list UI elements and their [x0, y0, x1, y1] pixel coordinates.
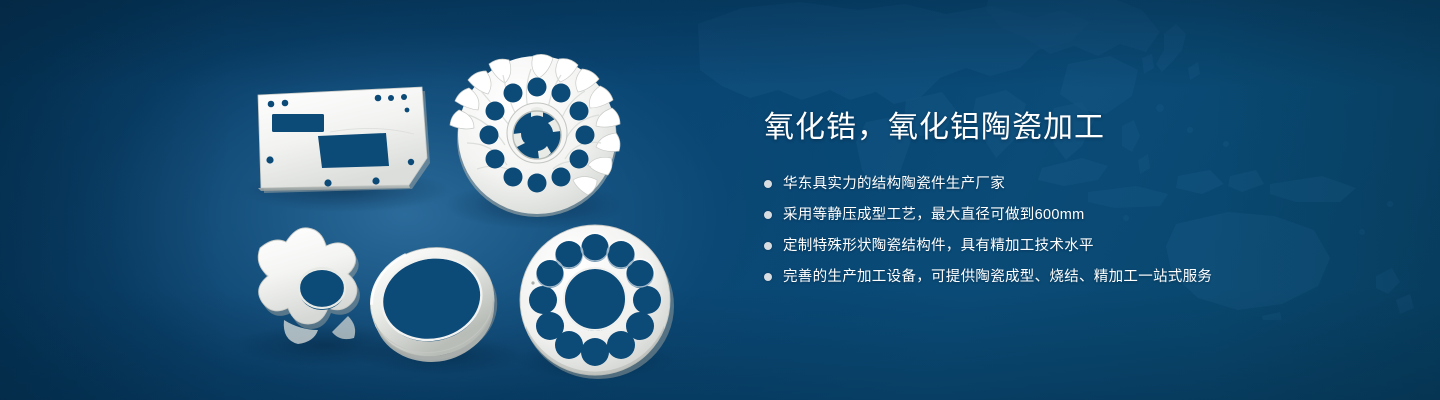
bullet-dot-icon [764, 180, 772, 188]
list-item-label: 完善的生产加工设备，可提供陶瓷成型、烧结、精加工一站式服务 [783, 266, 1212, 288]
bullet-dot-icon [764, 273, 772, 281]
banner-copy: 氧化锆，氧化铝陶瓷加工 华东具实力的结构陶瓷件生产厂家 采用等静压成型工艺，最大… [764, 108, 1404, 297]
bullet-dot-icon [764, 242, 772, 250]
list-item: 华东具实力的结构陶瓷件生产厂家 [764, 173, 1404, 195]
list-item: 定制特殊形状陶瓷结构件，具有精加工技术水平 [764, 235, 1404, 257]
page-title: 氧化锆，氧化铝陶瓷加工 [764, 108, 1404, 148]
feature-list: 华东具实力的结构陶瓷件生产厂家 采用等静压成型工艺，最大直径可做到600mm 定… [764, 173, 1404, 288]
ceramic-products-banner: 氧化锆，氧化铝陶瓷加工 华东具实力的结构陶瓷件生产厂家 采用等静压成型工艺，最大… [0, 0, 1440, 400]
list-item: 完善的生产加工设备，可提供陶瓷成型、烧结、精加工一站式服务 [764, 266, 1404, 288]
list-item-label: 华东具实力的结构陶瓷件生产厂家 [783, 173, 1005, 195]
list-item-label: 定制特殊形状陶瓷结构件，具有精加工技术水平 [783, 235, 1094, 257]
ceramic-products-image [0, 0, 730, 400]
list-item-label: 采用等静压成型工艺，最大直径可做到600mm [783, 204, 1084, 226]
list-item: 采用等静压成型工艺，最大直径可做到600mm [764, 204, 1404, 226]
bullet-dot-icon [764, 211, 772, 219]
